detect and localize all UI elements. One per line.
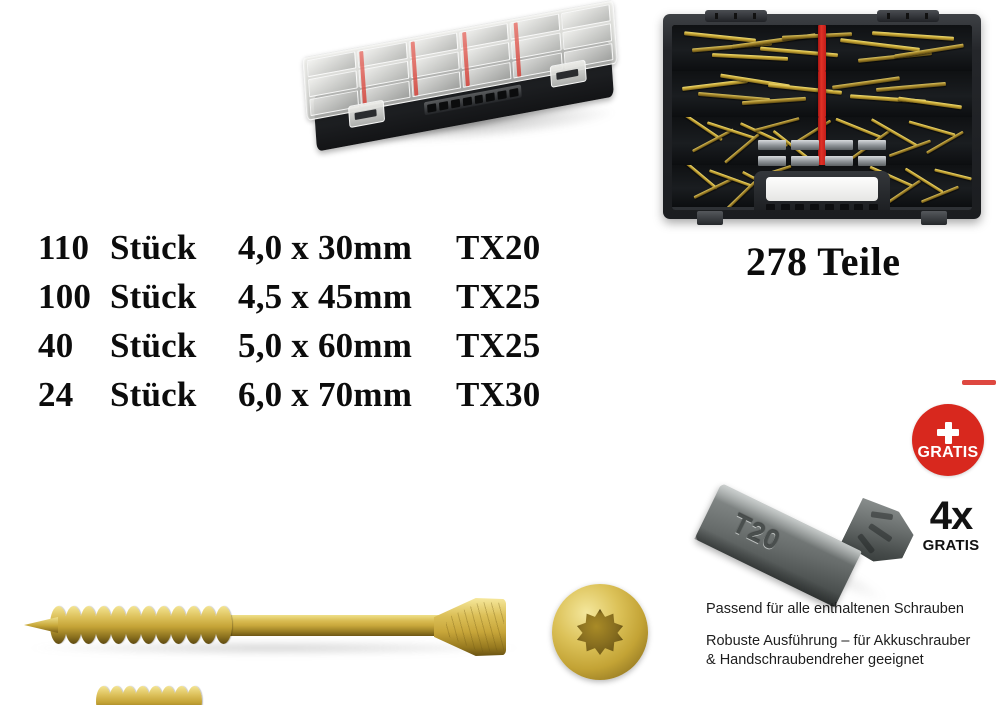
screw-threads: [50, 606, 236, 644]
included-bits-row: [758, 140, 886, 166]
free-count-number: 4x: [908, 496, 994, 536]
handle-label-area: [766, 177, 878, 201]
specification-table: 110 Stück 4,0 x 30mm TX20 100 Stück 4,5 …: [38, 228, 598, 424]
bit-icon: [791, 156, 819, 166]
cell-size: 6,0 x 70mm: [238, 375, 456, 415]
cell-unit: Stück: [110, 326, 238, 366]
bit-icon: [858, 140, 886, 150]
table-row: 24 Stück 6,0 x 70mm TX30: [38, 375, 598, 424]
cell-quantity: 110: [38, 228, 110, 268]
cell-drive: TX25: [456, 326, 586, 366]
bit-icon: [791, 140, 819, 150]
copy-line-3: & Handschraubendreher geeignet: [706, 651, 998, 670]
cropped-badge-edge: [962, 380, 996, 385]
cell-size: 4,5 x 45mm: [238, 277, 456, 317]
product-image-canvas: 278 Teile 110 Stück 4,0 x 30mm TX20 100 …: [0, 0, 1000, 705]
screw-side-view-image: [14, 596, 534, 662]
bit-icon: [758, 140, 786, 150]
handle-grip: [766, 204, 878, 210]
red-divider: [818, 25, 826, 71]
bit-shank: T20: [694, 483, 861, 607]
case-latch: [921, 211, 947, 225]
cell-unit: Stück: [110, 375, 238, 415]
cell-drive: TX20: [456, 228, 586, 268]
screw-torx-head-top-view: [552, 584, 648, 680]
case-hinge: [705, 10, 767, 22]
torx-bit-image: T20: [700, 452, 914, 588]
cell-unit: Stück: [110, 277, 238, 317]
copy-line-1: Passend für alle enthaltenen Schrauben: [706, 600, 998, 619]
screw-shank: [224, 615, 464, 636]
open-organizer-case-image: [663, 14, 981, 219]
cell-drive: TX25: [456, 277, 586, 317]
bit-icon: [858, 156, 886, 166]
case-latch: [697, 211, 723, 225]
case-handle: [754, 171, 890, 210]
free-count-label: GRATIS: [908, 538, 994, 553]
screw-tip: [24, 617, 58, 633]
bit-icon: [825, 156, 853, 166]
table-row: 100 Stück 4,5 x 45mm TX25: [38, 277, 598, 326]
screw-partial-bottom: [96, 690, 236, 705]
cell-quantity: 100: [38, 277, 110, 317]
plus-icon: [935, 420, 961, 446]
compartment-row: [672, 71, 972, 120]
red-divider: [818, 71, 826, 117]
cell-quantity: 40: [38, 326, 110, 366]
copy-line-2: Robuste Ausführung – für Akkuschrauber: [706, 632, 998, 651]
table-row: 110 Stück 4,0 x 30mm TX20: [38, 228, 598, 277]
free-bits-count: 4x GRATIS: [908, 496, 994, 553]
cell-unit: Stück: [110, 228, 238, 268]
bit-icon: [825, 140, 853, 150]
gratis-badge: GRATIS: [912, 404, 984, 476]
bit-icon: [758, 156, 786, 166]
case-hinge: [877, 10, 939, 22]
bit-description-text: Passend für alle enthaltenen Schrauben R…: [706, 600, 998, 670]
cell-drive: TX30: [456, 375, 586, 415]
gratis-badge-label: GRATIS: [917, 445, 978, 461]
total-pieces-label: 278 Teile: [746, 238, 901, 285]
cell-size: 4,0 x 30mm: [238, 228, 456, 268]
compartment-row: [672, 25, 972, 74]
table-row: 40 Stück 5,0 x 60mm TX25: [38, 326, 598, 375]
cell-size: 5,0 x 60mm: [238, 326, 456, 366]
case-compartments: [672, 25, 972, 210]
closed-organizer-case-image: [301, 11, 627, 165]
cell-quantity: 24: [38, 375, 110, 415]
